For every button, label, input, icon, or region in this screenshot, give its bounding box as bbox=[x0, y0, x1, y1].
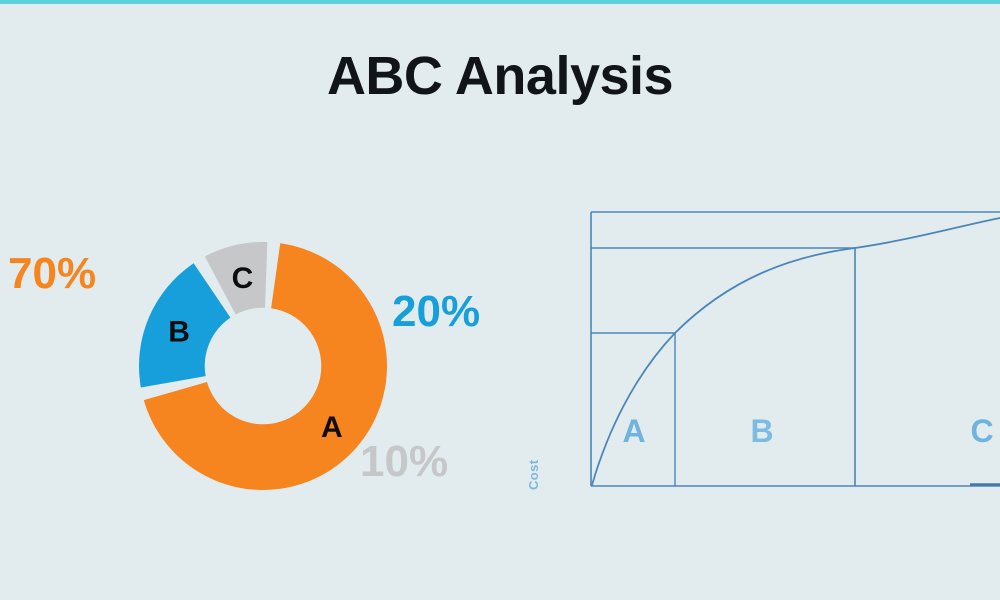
donut-percent-c: 10% bbox=[360, 440, 448, 484]
pareto-chart-svg: A B C bbox=[530, 190, 1000, 530]
pareto-y-axis-label: Cost bbox=[526, 460, 541, 491]
pareto-zone-label-b: B bbox=[750, 413, 773, 449]
pareto-cost-curve bbox=[592, 218, 1000, 485]
donut-label-a: A bbox=[321, 411, 343, 444]
donut-percent-a: 70% bbox=[8, 252, 96, 296]
pareto-chart: A B C Cost Inventory Percentage bbox=[530, 190, 1000, 530]
pareto-zone-label-a: A bbox=[622, 413, 645, 449]
donut-label-c: C bbox=[232, 262, 254, 295]
top-accent-strip bbox=[0, 0, 1000, 4]
screenshot-canvas: ABC Analysis A B C 70% 20% 10% bbox=[0, 0, 1000, 600]
donut-percent-b: 20% bbox=[392, 290, 480, 334]
page-title: ABC Analysis bbox=[0, 48, 1000, 105]
donut-label-b: B bbox=[168, 315, 190, 348]
pareto-zone-label-c: C bbox=[970, 413, 993, 449]
